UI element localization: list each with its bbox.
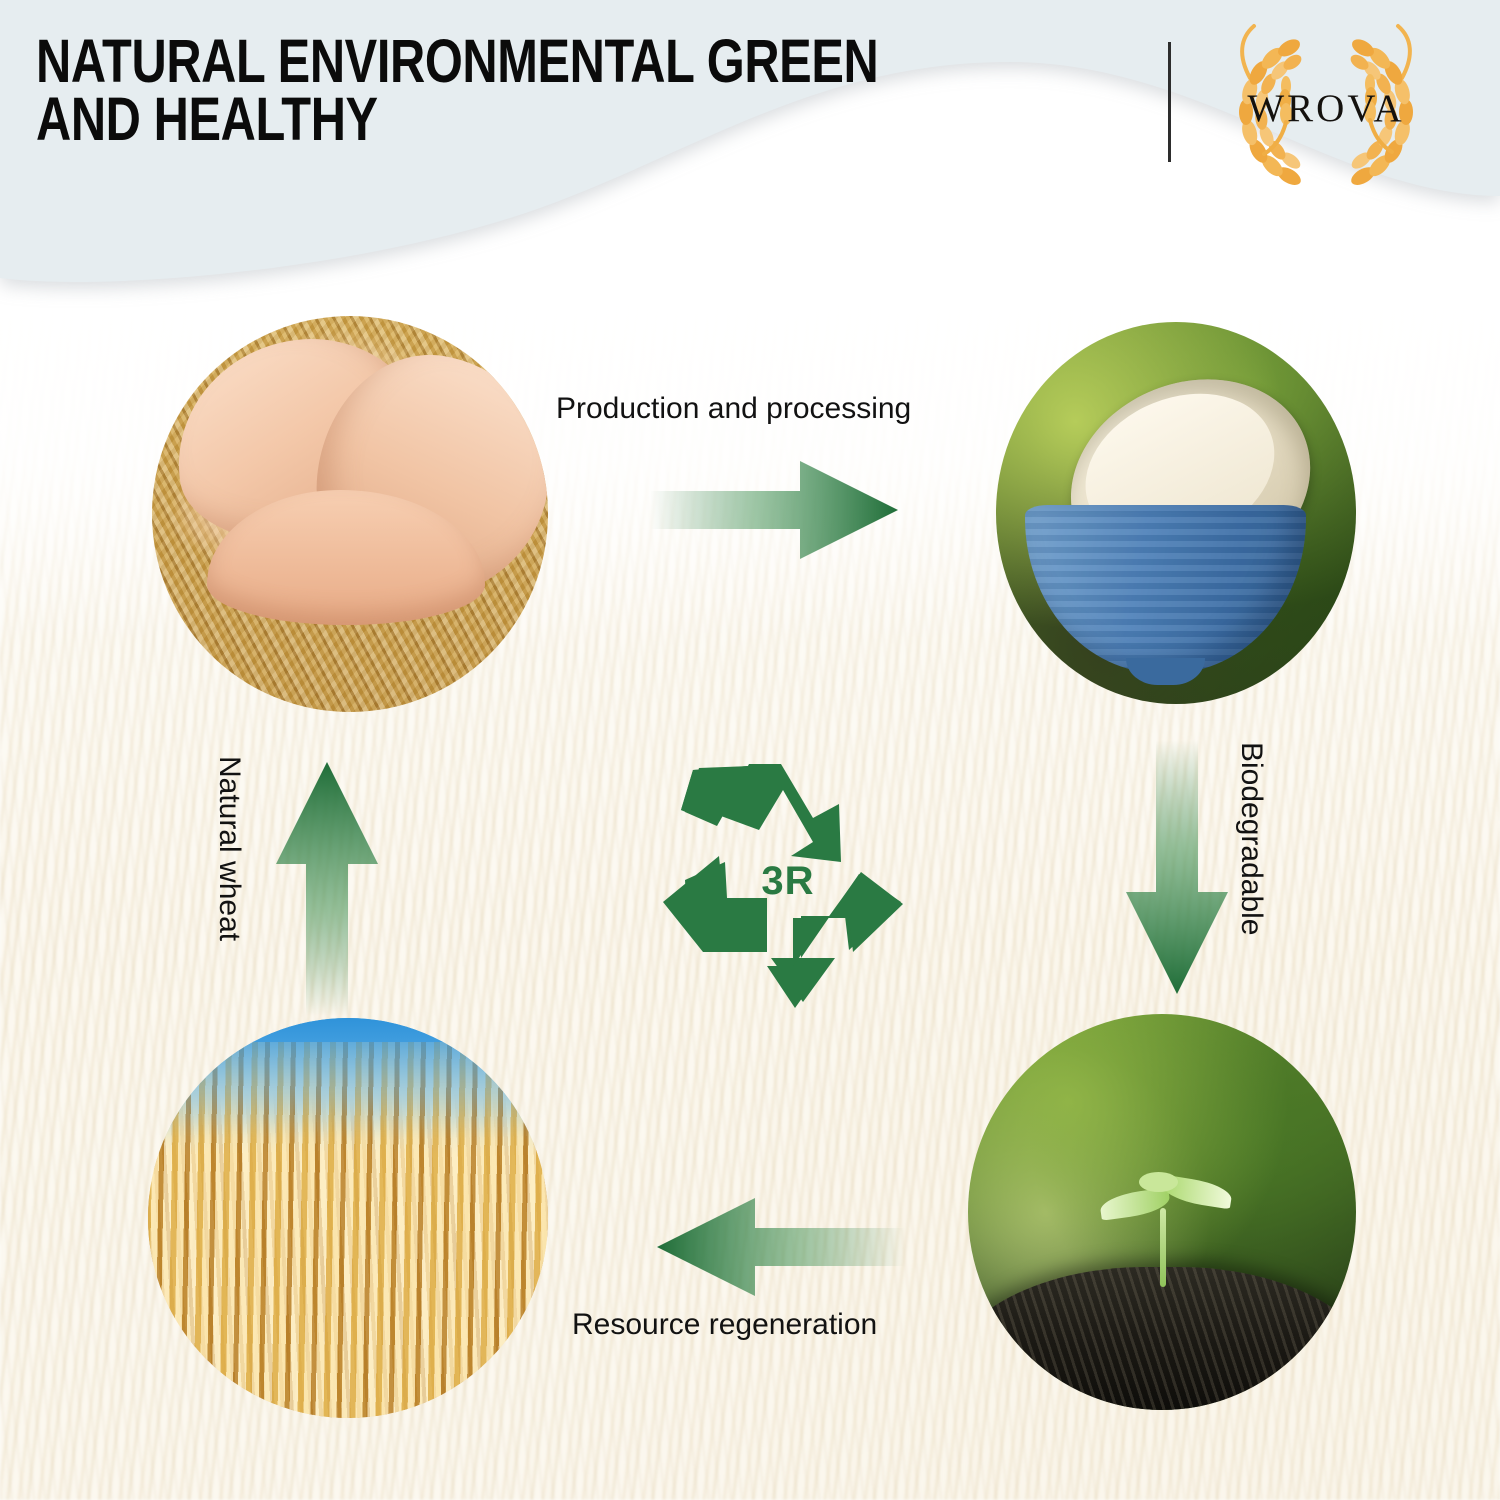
header-divider — [1168, 42, 1171, 162]
node-image-seedling — [968, 1014, 1356, 1410]
sprout-leaf-top — [1139, 1172, 1178, 1192]
arrow-left-resource-regeneration — [655, 1192, 905, 1302]
node-image-wheat-field — [148, 1018, 548, 1418]
label-natural-wheat: Natural wheat — [212, 756, 246, 941]
label-biodegradable: Biodegradable — [1234, 742, 1268, 936]
bowl-blue-foot — [1126, 658, 1205, 685]
soil-mound — [968, 1267, 1356, 1410]
arrow-down-biodegradable — [1122, 740, 1232, 996]
recycle-label: 3R — [663, 752, 903, 1010]
bowl-blue — [1025, 505, 1306, 673]
node-image-grain — [152, 316, 548, 712]
arrow-up-natural-wheat — [272, 760, 382, 1016]
infographic-canvas: NATURAL ENVIRONMENTAL GREEN AND HEALTHY — [0, 0, 1500, 1500]
brand-logo: WROVA — [1218, 16, 1434, 212]
brand-name: WROVA — [1218, 86, 1434, 131]
label-production-and-processing: Production and processing — [556, 392, 911, 426]
page-title-line-1: NATURAL ENVIRONMENTAL GREEN — [36, 32, 878, 90]
page-title: NATURAL ENVIRONMENTAL GREEN AND HEALTHY — [36, 32, 1089, 148]
arrow-right-production — [650, 455, 900, 565]
wheat-ears — [148, 1042, 548, 1418]
soil-texture — [968, 1267, 1356, 1410]
recycle-badge: 3R — [663, 752, 903, 1010]
page-title-line-2: AND HEALTHY — [36, 90, 878, 148]
node-image-bowls — [996, 322, 1356, 704]
label-resource-regeneration: Resource regeneration — [572, 1308, 877, 1342]
sprout-stem — [1160, 1208, 1166, 1287]
